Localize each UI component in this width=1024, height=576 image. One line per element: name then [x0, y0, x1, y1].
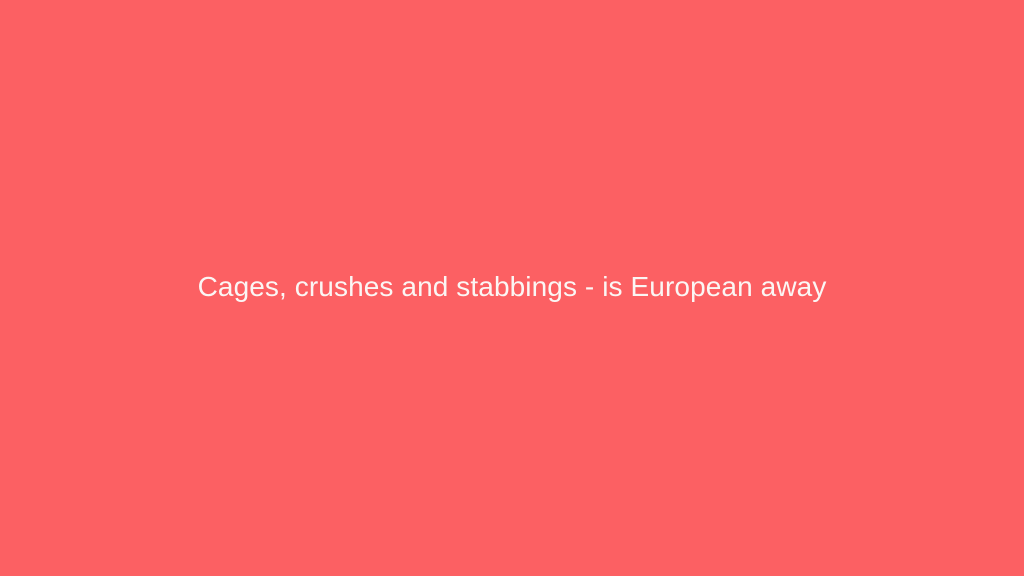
page-headline: Cages, crushes and stabbings - is Europe…	[40, 270, 984, 304]
headline-block: Cages, crushes and stabbings - is Europe…	[0, 270, 1024, 304]
page-root: Cages, crushes and stabbings - is Europe…	[0, 0, 1024, 576]
